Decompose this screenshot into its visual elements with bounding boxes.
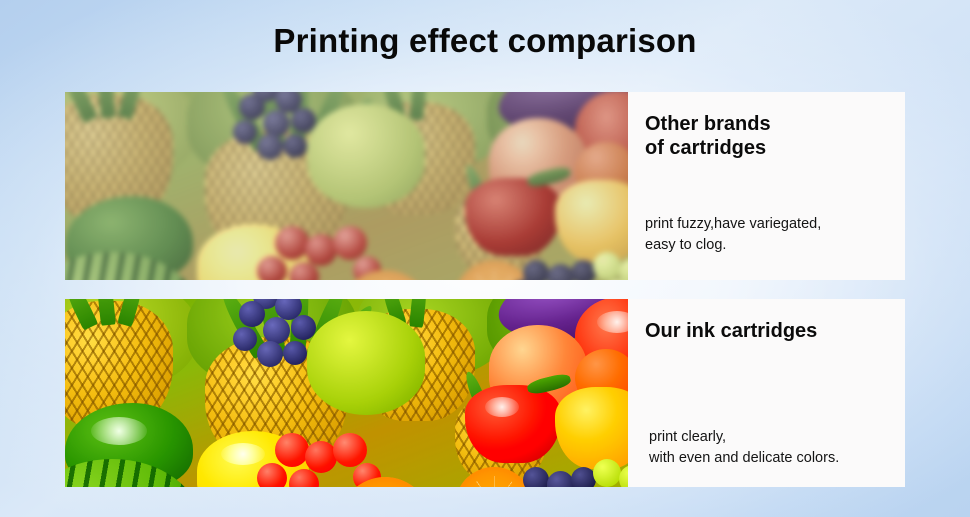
fruit-photo-canvas xyxy=(65,92,628,280)
comparison-row-our-cartridges: Our ink cartridges print clearly, with e… xyxy=(65,299,905,487)
panel-heading-other-brands: Other brands of cartridges xyxy=(645,112,771,160)
panel-body-other-brands: print fuzzy,have variegated, easy to clo… xyxy=(645,214,821,256)
panel-body-our-cartridges: print clearly, with even and delicate co… xyxy=(649,427,839,469)
printed-sample-image-our-cartridges xyxy=(65,299,628,487)
comparison-row-other-brands: Other brands of cartridges print fuzzy,h… xyxy=(65,92,905,280)
description-panel-other-brands: Other brands of cartridges print fuzzy,h… xyxy=(628,92,905,280)
fruit-photo-canvas xyxy=(65,299,628,487)
page-title: Printing effect comparison xyxy=(0,22,970,60)
comparison-page: Printing effect comparison xyxy=(0,0,970,517)
printed-sample-image-other-brands xyxy=(65,92,628,280)
description-panel-our-cartridges: Our ink cartridges print clearly, with e… xyxy=(628,299,905,487)
panel-heading-our-cartridges: Our ink cartridges xyxy=(645,319,817,343)
